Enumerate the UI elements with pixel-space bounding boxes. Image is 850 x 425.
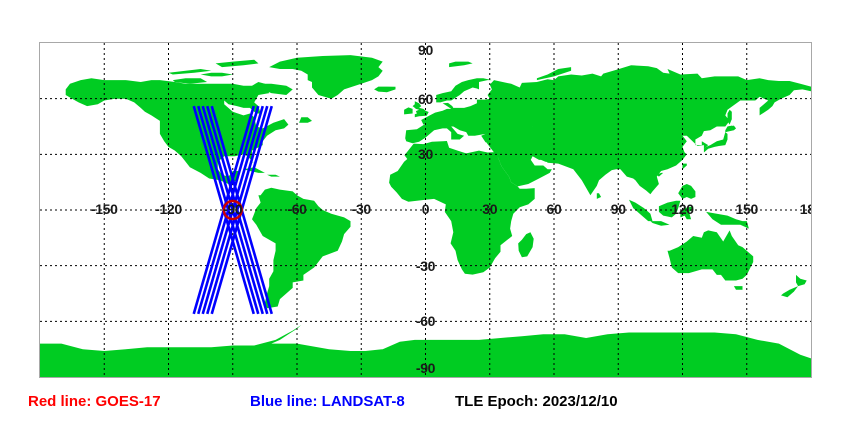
legend-blue-line: Blue line: LANDSAT-8 — [250, 392, 405, 412]
lat-tick--90: -90 — [416, 360, 435, 376]
lon-tick--30: -30 — [352, 201, 371, 217]
lon-tick-0: 0 — [422, 201, 430, 217]
lon-tick-90: 90 — [611, 201, 626, 217]
legend-tle-epoch: TLE Epoch: 2023/12/10 — [455, 392, 618, 412]
lon-tick--150: -150 — [91, 201, 118, 217]
lat-tick-30: 30 — [418, 146, 433, 162]
lat-tick-60: 60 — [418, 91, 433, 107]
lat-tick--60: -60 — [416, 313, 435, 329]
lon-tick-150: 150 — [736, 201, 758, 217]
lon-tick-180: 180 — [800, 201, 812, 217]
lon-tick-60: 60 — [547, 201, 562, 217]
lon-tick-120: 120 — [671, 201, 693, 217]
lat-tick-90: 90 — [418, 42, 433, 58]
satellite-tracking-map: -300306090120150180-150-120-90-60906030-… — [0, 0, 850, 425]
lon-tick--90: -90 — [223, 201, 242, 217]
lon-tick--60: -60 — [287, 201, 306, 217]
lon-tick--120: -120 — [155, 201, 182, 217]
lon-tick-30: 30 — [482, 201, 497, 217]
legend-red-line: Red line: GOES-17 — [28, 392, 161, 412]
lat-tick--30: -30 — [416, 258, 435, 274]
world-map-frame: -300306090120150180-150-120-90-60906030-… — [39, 42, 812, 378]
legend-bar: Red line: GOES-17 Blue line: LANDSAT-8 T… — [0, 392, 850, 425]
